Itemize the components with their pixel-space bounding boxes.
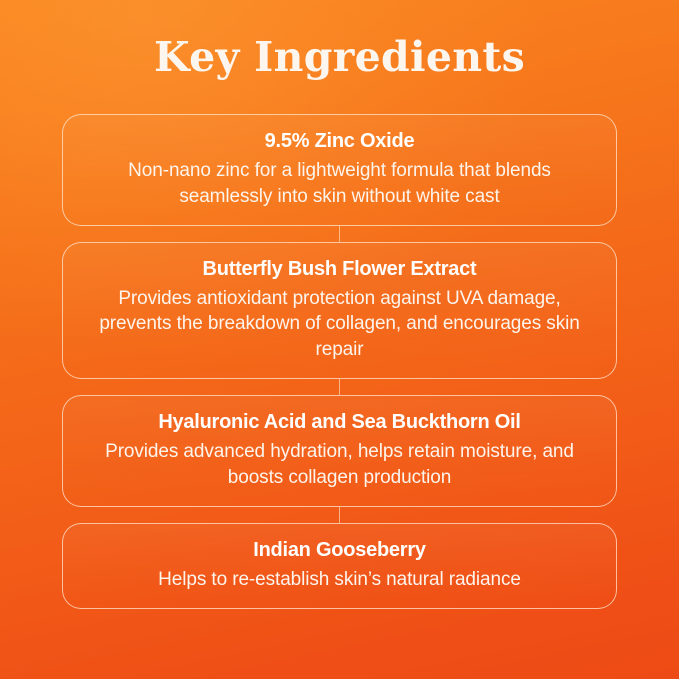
- ingredient-card: Hyaluronic Acid and Sea Buckthorn Oil Pr…: [62, 395, 617, 507]
- page-title-container: Key Ingredients: [0, 34, 679, 81]
- ingredient-card: Indian Gooseberry Helps to re-establish …: [62, 523, 617, 609]
- ingredient-card-body: Provides advanced hydration, helps retai…: [89, 439, 590, 491]
- ingredient-card-title: Hyaluronic Acid and Sea Buckthorn Oil: [89, 409, 590, 436]
- ingredient-card-title: Butterfly Bush Flower Extract: [89, 256, 590, 283]
- card-connector-line: [339, 226, 340, 242]
- ingredient-card-title: 9.5% Zinc Oxide: [89, 128, 590, 155]
- ingredient-card-stack: 9.5% Zinc Oxide Non-nano zinc for a ligh…: [62, 114, 617, 609]
- ingredient-card: Butterfly Bush Flower Extract Provides a…: [62, 242, 617, 379]
- ingredient-card-body: Helps to re-establish skin’s natural rad…: [89, 567, 590, 593]
- page-title: Key Ingredients: [154, 34, 525, 81]
- ingredient-card-title: Indian Gooseberry: [89, 537, 590, 564]
- ingredient-card-body: Provides antioxidant protection against …: [89, 286, 590, 363]
- ingredient-card-body: Non-nano zinc for a lightweight formula …: [89, 158, 590, 210]
- card-connector-line: [339, 379, 340, 395]
- ingredients-poster: Key Ingredients 9.5% Zinc Oxide Non-nano…: [0, 0, 679, 679]
- ingredient-card: 9.5% Zinc Oxide Non-nano zinc for a ligh…: [62, 114, 617, 226]
- card-connector-line: [339, 507, 340, 523]
